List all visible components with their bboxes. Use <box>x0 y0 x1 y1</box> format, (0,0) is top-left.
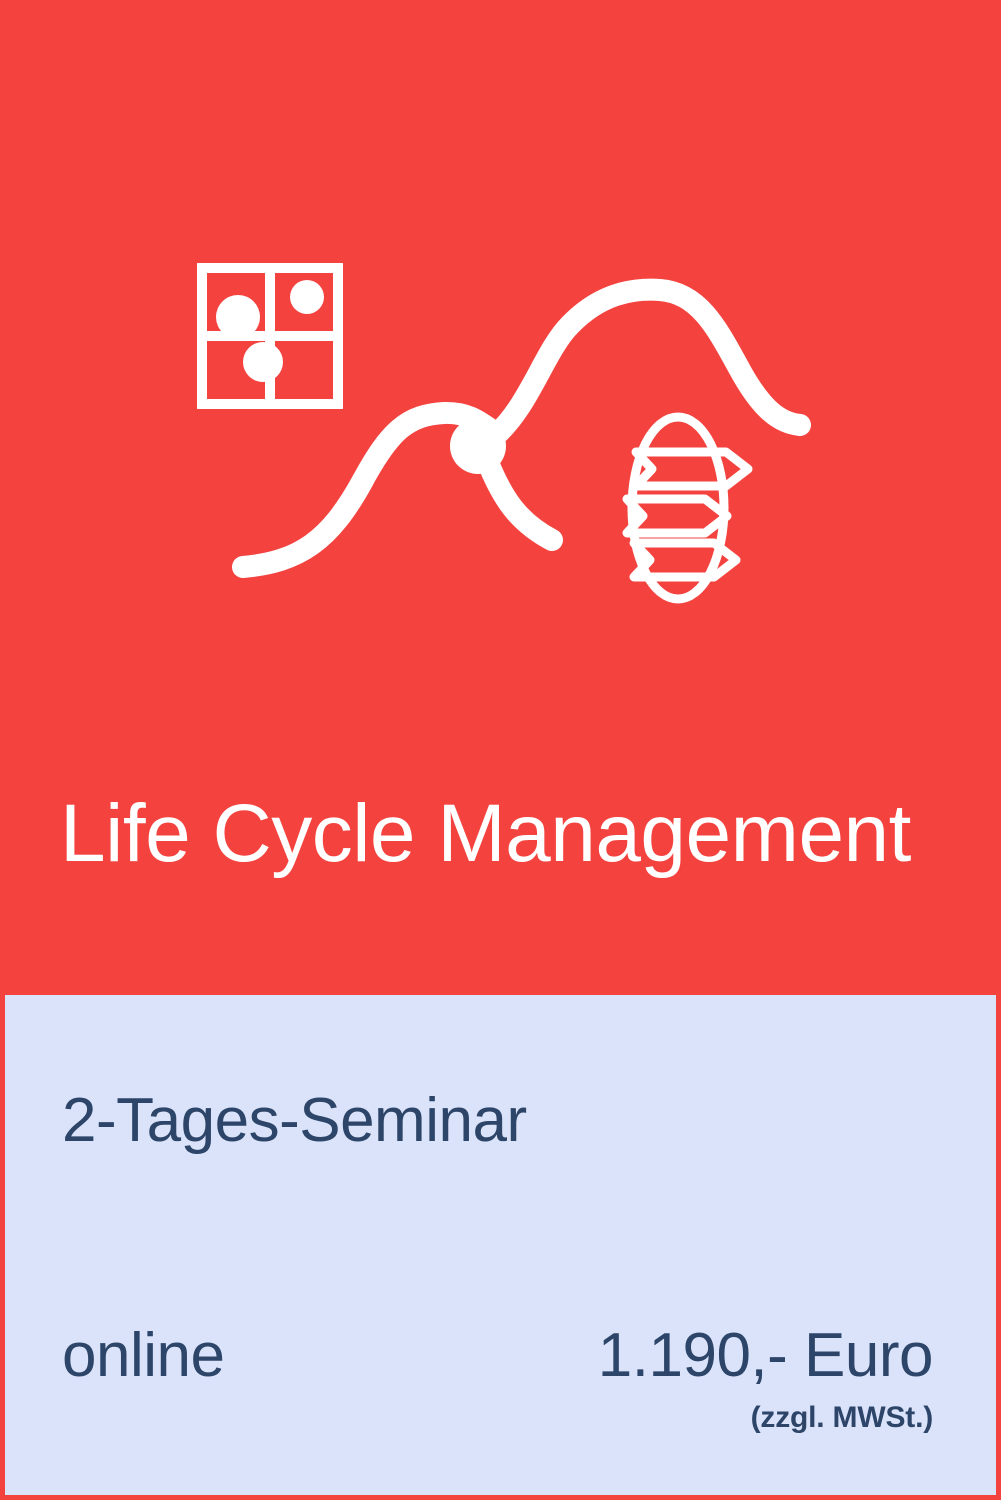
hero-panel: Life Cycle Management <box>0 0 1001 995</box>
portfolio-matrix-lifecycle-illustration <box>0 0 1001 700</box>
price-row: online 1.190,- Euro (zzgl. MWSt.) <box>5 1320 996 1480</box>
arrow-target-ellipse <box>632 417 724 599</box>
matrix-2x2-icon <box>202 268 338 404</box>
price-block: 1.190,- Euro (zzgl. MWSt.) <box>598 1320 933 1436</box>
matrix-dot-top-left <box>216 295 260 339</box>
details-panel: 2-Tages-Seminar online 1.190,- Euro (zzg… <box>0 995 1001 1500</box>
lifecycle-curve-main <box>243 290 800 567</box>
arrow-banner-bottom <box>634 543 736 577</box>
page-title: Life Cycle Management <box>60 786 980 882</box>
seminar-format-label: 2-Tages-Seminar <box>62 1085 527 1157</box>
lifecycle-curve-group <box>243 290 800 567</box>
lifecycle-curve-branch <box>487 460 552 540</box>
ellipse-with-arrows-icon <box>627 417 748 599</box>
price-vat-note: (zzgl. MWSt.) <box>598 1400 933 1436</box>
curve-node-dot <box>450 418 506 474</box>
price-amount: 1.190,- Euro <box>598 1320 933 1392</box>
arrow-banner-middle <box>627 499 727 533</box>
matrix-dot-bottom <box>243 342 283 382</box>
matrix-dot-top-right <box>290 280 324 314</box>
seminar-card: Life Cycle Management 2-Tages-Seminar on… <box>0 0 1001 1500</box>
delivery-mode-label: online <box>62 1320 224 1392</box>
matrix-outer-frame <box>202 268 338 404</box>
arrow-banner-top <box>636 452 748 486</box>
